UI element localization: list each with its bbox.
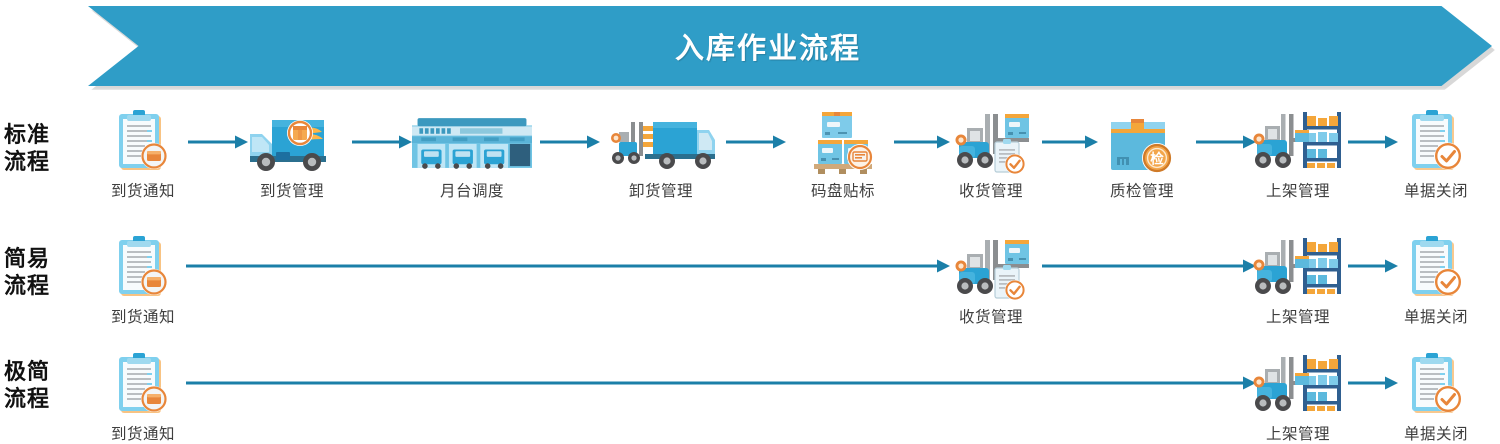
row-label-standard-process: 标准流程 (4, 122, 84, 176)
forklift-shelf-icon (1238, 230, 1358, 302)
forklift-receive-check-icon (931, 104, 1051, 176)
process-step-label: 单据关闭 (1376, 305, 1496, 327)
row-label-line: 流程 (4, 273, 84, 300)
forklift-unload-truck-icon (601, 104, 721, 176)
process-step-label: 质检管理 (1082, 179, 1202, 201)
page-title: 入库作业流程 (675, 25, 861, 67)
process-step-label: 到货通知 (83, 179, 203, 201)
delivery-truck-icon (232, 104, 352, 176)
forklift-shelf-icon (1238, 347, 1358, 419)
process-step-forklift-shelf[interactable]: 上架管理 (1238, 104, 1358, 201)
process-row-standard: 标准流程 到货通知 (0, 100, 1500, 210)
pallet-label-boxes-icon (783, 104, 903, 176)
process-step-label: 上架管理 (1238, 179, 1358, 201)
row-label-line: 流程 (4, 149, 84, 176)
forklift-receive-check-icon (931, 230, 1051, 302)
process-step-forklift-shelf[interactable]: 上架管理 (1238, 347, 1358, 444)
process-step-warehouse-dock[interactable]: 月台调度 (412, 104, 532, 201)
flow-arrow (186, 255, 950, 277)
process-step-label: 单据关闭 (1376, 179, 1496, 201)
process-row-minimal: 极简流程 到货通知 (0, 345, 1500, 444)
process-step-label: 卸货管理 (601, 179, 721, 201)
process-step-clipboard-check[interactable]: 单据关闭 (1376, 230, 1496, 327)
row-label-simplified-process: 简易流程 (4, 246, 84, 300)
banner-chevron: 入库作业流程 (88, 6, 1492, 86)
process-step-label: 收货管理 (931, 179, 1051, 201)
row-label-line: 流程 (4, 386, 84, 413)
row-label-line: 标准 (4, 122, 84, 149)
banner: 入库作业流程 (88, 6, 1492, 86)
flow-arrow (352, 131, 412, 153)
forklift-shelf-icon (1238, 104, 1358, 176)
flow-arrow (726, 131, 786, 153)
flow-arrow (186, 372, 1256, 394)
process-step-forklift-receive-check[interactable]: 收货管理 (931, 230, 1051, 327)
row-label-line: 简易 (4, 246, 84, 273)
quality-inspection-box-icon: 检 (1082, 104, 1202, 176)
warehouse-dock-icon (412, 104, 532, 176)
process-row-simplified: 简易流程 到货通知 (0, 228, 1500, 333)
clipboard-check-icon (1376, 230, 1496, 302)
svg-text:检: 检 (1150, 151, 1164, 167)
process-step-label: 到货通知 (83, 305, 203, 327)
process-step-pallet-label-boxes[interactable]: 码盘贴标 (783, 104, 903, 201)
process-step-clipboard-check[interactable]: 单据关闭 (1376, 104, 1496, 201)
row-label-line: 极简 (4, 359, 84, 386)
process-step-forklift-receive-check[interactable]: 收货管理 (931, 104, 1051, 201)
process-step-forklift-unload-truck[interactable]: 卸货管理 (601, 104, 721, 201)
process-step-clipboard-notice[interactable]: 到货通知 (83, 347, 203, 444)
process-step-clipboard-notice[interactable]: 到货通知 (83, 104, 203, 201)
flow-arrow (540, 131, 600, 153)
clipboard-check-icon (1376, 347, 1496, 419)
process-step-label: 上架管理 (1238, 305, 1358, 327)
process-step-label: 上架管理 (1238, 422, 1358, 444)
process-step-delivery-truck[interactable]: 到货管理 (232, 104, 352, 201)
clipboard-check-icon (1376, 104, 1496, 176)
process-step-clipboard-notice[interactable]: 到货通知 (83, 230, 203, 327)
process-step-label: 码盘贴标 (783, 179, 903, 201)
process-step-label: 收货管理 (931, 305, 1051, 327)
process-step-label: 到货通知 (83, 422, 203, 444)
flow-arrow (1042, 255, 1256, 277)
clipboard-notice-icon (83, 347, 203, 419)
process-step-clipboard-check[interactable]: 单据关闭 (1376, 347, 1496, 444)
clipboard-notice-icon (83, 104, 203, 176)
row-label-minimal-process: 极简流程 (4, 359, 84, 413)
process-step-label: 单据关闭 (1376, 422, 1496, 444)
process-step-label: 月台调度 (412, 179, 532, 201)
process-step-quality-inspection-box[interactable]: 检 质检管理 (1082, 104, 1202, 201)
clipboard-notice-icon (83, 230, 203, 302)
process-step-forklift-shelf[interactable]: 上架管理 (1238, 230, 1358, 327)
process-step-label: 到货管理 (232, 179, 352, 201)
